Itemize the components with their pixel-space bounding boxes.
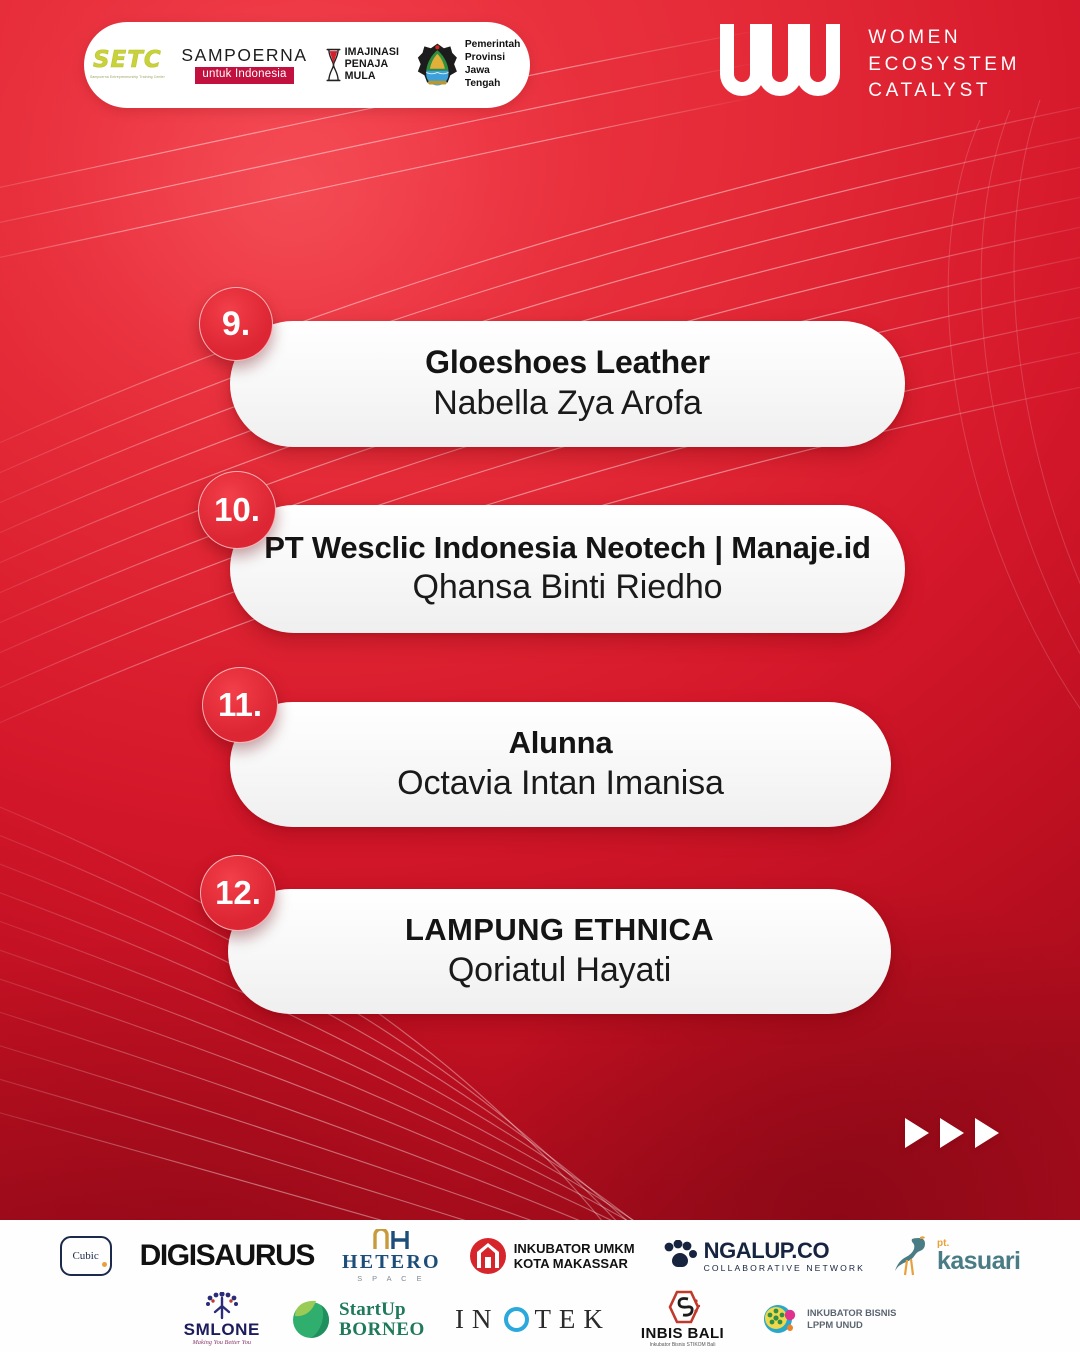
- imajinasi-line-3: MULA: [345, 71, 399, 83]
- hourglass-icon: [325, 47, 342, 83]
- smlone-logo-icon: SMLONE Making You Better You: [184, 1292, 260, 1346]
- ngalup-line-1: NGALUP.CO: [704, 1240, 865, 1262]
- wec-line-catalyst: CATALYST: [868, 78, 1020, 105]
- borneo-line-2: BORNEO: [339, 1320, 425, 1339]
- sponsor-logo-bar: SETC Sampoerna Entrepreneurship Training…: [84, 22, 530, 108]
- sampoerna-tagline: untuk Indonesia: [195, 67, 293, 84]
- borneo-line-1: StartUp: [339, 1300, 425, 1319]
- finalist-card-11[interactable]: Alunna Octavia Intan Imanisa: [230, 702, 891, 827]
- play-arrow-icon-3: [975, 1118, 999, 1148]
- setc-wordmark: SETC: [93, 49, 162, 72]
- inbis-subtitle: Inkubator Bisnis STIKOM Bali: [650, 1343, 716, 1348]
- poster-canvas: SETC Sampoerna Entrepreneurship Training…: [0, 0, 1080, 1352]
- triple-play-arrow-icon: [905, 1118, 999, 1148]
- finalist-card-10[interactable]: PT Wesclic Indonesia Neotech | Manaje.id…: [230, 505, 905, 633]
- makassar-house-icon: [469, 1237, 507, 1275]
- inbis-hex-icon: [665, 1290, 701, 1324]
- jateng-line-2: Provinsi: [465, 52, 524, 65]
- wec-line-women: WOMEN: [868, 25, 1020, 52]
- finalist-card-12[interactable]: LAMPUNG ETHNICA Qoriatul Hayati: [228, 889, 891, 1014]
- startup-borneo-logo-icon: StartUp BORNEO: [290, 1298, 425, 1340]
- sampoerna-logo: SAMPOERNA untuk Indonesia: [181, 47, 307, 84]
- smlone-wordmark: SMLONE: [184, 1321, 260, 1338]
- unud-line-2: LPPM UNUD: [807, 1319, 896, 1331]
- jateng-line-3: Jawa Tengah: [465, 65, 524, 91]
- inotek-logo-icon: IN TEK: [455, 1304, 611, 1335]
- play-arrow-icon-2: [940, 1118, 964, 1148]
- ngalup-line-2: COLLABORATIVE NETWORK: [704, 1264, 865, 1273]
- ngalup-paw-icon: [663, 1240, 697, 1272]
- ngalup-logo-icon: NGALUP.CO COLLABORATIVE NETWORK: [663, 1240, 865, 1273]
- inotek-prefix: IN: [455, 1304, 500, 1335]
- business-name-10: PT Wesclic Indonesia Neotech | Manaje.id: [264, 531, 871, 566]
- imajinasi-penaja-mula-logo: IMAJINASI PENAJA MULA: [325, 47, 399, 83]
- business-name-12: LAMPUNG ETHNICA: [405, 913, 714, 948]
- hetero-space-logo-icon: HETERO S P A C E: [342, 1229, 441, 1282]
- makassar-line-2: KOTA MAKASSAR: [514, 1256, 635, 1271]
- founder-name-11: Octavia Intan Imanisa: [397, 763, 724, 803]
- digisaurus-logo-icon: DIGISAURUS: [140, 1241, 314, 1271]
- rank-badge-11: 11.: [202, 667, 278, 743]
- setc-logo: SETC Sampoerna Entrepreneurship Training…: [90, 49, 164, 80]
- founder-name-9: Nabella Zya Arofa: [433, 383, 702, 423]
- partner-row-2: SMLONE Making You Better You StartUp BOR…: [184, 1289, 897, 1349]
- women-ecosystem-catalyst-brand: WOMEN ECOSYSTEM CATALYST: [714, 22, 1020, 108]
- rank-badge-10: 10.: [198, 471, 276, 549]
- makassar-line-1: INKUBATOR UMKM: [514, 1241, 635, 1256]
- w-monogram-icon: [714, 22, 846, 108]
- inotek-ring-icon: [504, 1307, 529, 1332]
- hetero-subtitle: S P A C E: [357, 1275, 425, 1282]
- jateng-wordmark: Pemerintah Provinsi Jawa Tengah: [465, 39, 524, 90]
- makassar-wordmark: INKUBATOR UMKM KOTA MAKASSAR: [514, 1241, 635, 1271]
- unud-incubator-logo-icon: INKUBATOR BISNIS LPPM UNUD: [754, 1299, 896, 1339]
- unud-incubator-icon: [754, 1299, 802, 1339]
- rank-badge-9: 9.: [199, 287, 273, 361]
- background-line-texture: [0, 0, 1080, 1352]
- rank-number-9: 9.: [222, 305, 250, 344]
- business-name-11: Alunna: [509, 726, 613, 761]
- hetero-wordmark: HETERO: [342, 1252, 441, 1272]
- cubic-logo-icon: Cubic: [60, 1236, 112, 1276]
- cubic-label: Cubic: [72, 1250, 98, 1262]
- play-arrow-icon-1: [905, 1118, 929, 1148]
- wec-line-ecosystem: ECOSYSTEM: [868, 52, 1020, 79]
- rank-number-11: 11.: [218, 686, 262, 724]
- smlone-tagline: Making You Better You: [192, 1340, 251, 1346]
- inotek-suffix: TEK: [534, 1304, 610, 1335]
- hetero-mark-icon: [369, 1229, 413, 1251]
- borneo-wordmark: StartUp BORNEO: [339, 1300, 425, 1339]
- founder-name-12: Qoriatul Hayati: [448, 950, 671, 990]
- wec-wordmark: WOMEN ECOSYSTEM CATALYST: [868, 25, 1020, 106]
- borneo-leaf-icon: [290, 1298, 332, 1340]
- partner-row-1: Cubic DIGISAURUS HETERO S P A C E: [60, 1225, 1021, 1287]
- cassowary-bird-icon: [893, 1234, 933, 1278]
- rank-number-12: 12.: [215, 874, 261, 912]
- founder-name-10: Qhansa Binti Riedho: [413, 567, 723, 607]
- jawa-tengah-emblem-icon: [416, 40, 459, 90]
- business-name-9: Gloeshoes Leather: [425, 345, 710, 381]
- imajinasi-wordmark: IMAJINASI PENAJA MULA: [345, 47, 399, 83]
- unud-line-1: INKUBATOR BISNIS: [807, 1307, 896, 1319]
- rank-badge-12: 12.: [200, 855, 276, 931]
- partner-logo-bar: Cubic DIGISAURUS HETERO S P A C E: [0, 1220, 1080, 1352]
- unud-wordmark: INKUBATOR BISNIS LPPM UNUD: [807, 1307, 896, 1331]
- inbis-bali-logo-icon: INBIS BALI Inkubator Bisnis STIKOM Bali: [641, 1290, 724, 1348]
- setc-tagline: Sampoerna Entrepreneurship Training Cent…: [90, 75, 165, 80]
- smlone-tree-icon: [202, 1292, 242, 1320]
- kasuari-name: kasuari: [937, 1249, 1020, 1274]
- inbis-wordmark: INBIS BALI: [641, 1326, 724, 1341]
- sampoerna-wordmark: SAMPOERNA: [181, 47, 307, 65]
- kasuari-wordmark: pt. kasuari: [937, 1239, 1020, 1278]
- jawa-tengah-logo: Pemerintah Provinsi Jawa Tengah: [416, 39, 523, 90]
- inkubator-makassar-logo-icon: INKUBATOR UMKM KOTA MAKASSAR: [469, 1237, 635, 1275]
- finalist-card-9[interactable]: Gloeshoes Leather Nabella Zya Arofa: [230, 321, 905, 447]
- kasuari-logo-icon: pt. kasuari: [893, 1234, 1020, 1278]
- jateng-line-1: Pemerintah: [465, 39, 524, 52]
- rank-number-10: 10.: [214, 491, 260, 529]
- ngalup-wordmark: NGALUP.CO COLLABORATIVE NETWORK: [704, 1240, 865, 1273]
